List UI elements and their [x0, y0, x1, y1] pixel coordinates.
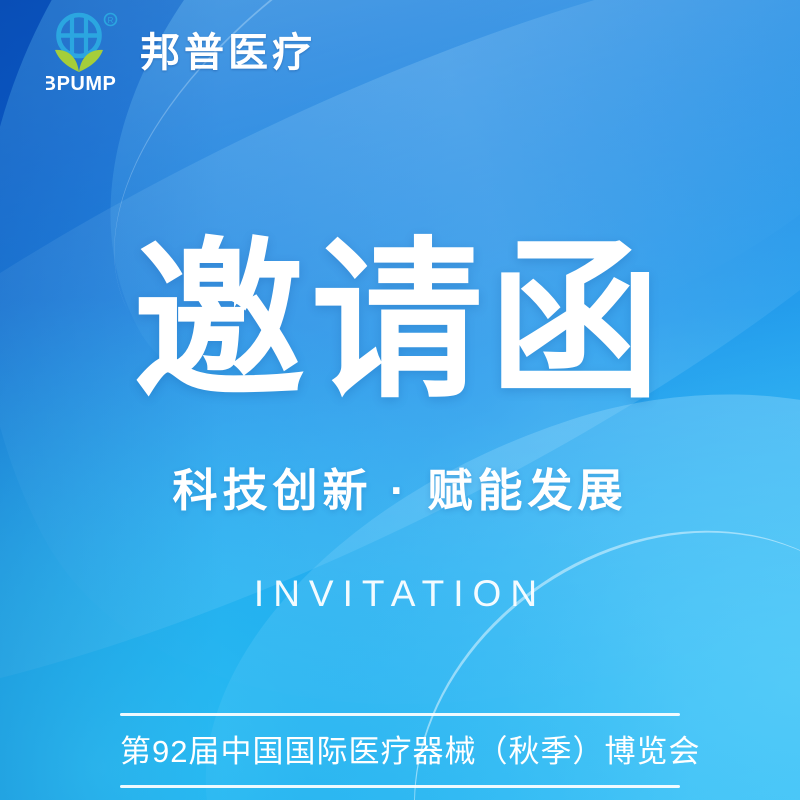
hero-subtitle: 科技创新 · 赋能发展	[0, 468, 800, 513]
svg-text:R: R	[108, 16, 114, 25]
registered-mark-icon: R	[105, 14, 117, 26]
circle-grid-icon	[59, 15, 100, 56]
hero-english-title: INVITATION	[0, 575, 800, 612]
page-title: 邀请函	[0, 236, 800, 408]
footer-block: 第92届中国国际医疗器械（秋季）博览会	[120, 713, 680, 788]
hero-block: 邀请函 科技创新 · 赋能发展 INVITATION	[0, 236, 800, 612]
event-name: 第92届中国国际医疗器械（秋季）博览会	[120, 716, 680, 785]
bpump-wordmark: BPUMP	[46, 73, 116, 95]
leaf-pair-icon	[55, 50, 103, 72]
invitation-poster: R BPUMP 邦普医疗 邀请函 科技	[0, 0, 800, 800]
footer-rule-bottom	[120, 785, 680, 788]
bpump-emblem-icon: R BPUMP	[46, 10, 122, 96]
brand-lockup: R BPUMP 邦普医疗	[46, 10, 316, 96]
company-name: 邦普医疗	[140, 33, 316, 73]
